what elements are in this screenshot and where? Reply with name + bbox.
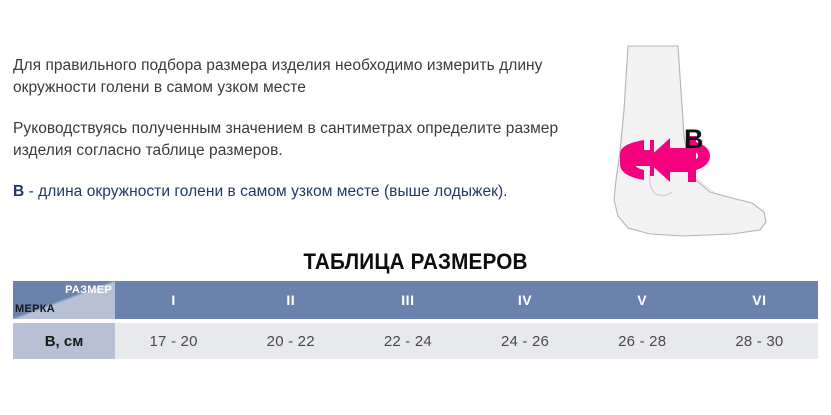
column-header-5: V — [584, 281, 701, 319]
instruction-paragraph-3: B - длина окружности голени в самом узко… — [13, 181, 573, 203]
cell-size-5: 26 - 28 — [584, 323, 701, 359]
column-header-6: VI — [701, 281, 818, 319]
measurement-marker-description: - длина окружности голени в самом узком … — [24, 183, 507, 200]
cell-size-2: 20 - 22 — [232, 323, 349, 359]
cell-size-6: 28 - 30 — [701, 323, 818, 359]
table-header-row: РАЗМЕР МЕРКА I II III IV V VI — [13, 281, 818, 319]
size-table: РАЗМЕР МЕРКА I II III IV V VI B, см 17 -… — [13, 281, 818, 359]
measurement-marker-b: B — [13, 183, 24, 200]
column-header-3: III — [349, 281, 466, 319]
figure-measurement-label: B — [684, 126, 704, 153]
column-header-1: I — [115, 281, 232, 319]
column-header-4: IV — [466, 281, 583, 319]
cell-size-1: 17 - 20 — [115, 323, 232, 359]
instruction-paragraph-2: Руководствуясь полученным значением в са… — [13, 118, 573, 162]
column-header-2: II — [232, 281, 349, 319]
table-corner-cell: РАЗМЕР МЕРКА — [13, 281, 115, 319]
table-title: ТАБЛИЦА РАЗМЕРОВ — [25, 249, 806, 275]
table-row: B, см 17 - 20 20 - 22 22 - 24 24 - 26 26… — [13, 323, 818, 359]
cell-size-3: 22 - 24 — [349, 323, 466, 359]
row-label-measure: B, см — [13, 323, 115, 359]
corner-measure-label: МЕРКА — [15, 303, 55, 315]
instructions-block: Для правильного подбора размера изделия … — [13, 55, 573, 203]
instruction-paragraph-1: Для правильного подбора размера изделия … — [13, 55, 573, 99]
corner-size-label: РАЗМЕР — [65, 284, 112, 296]
leg-illustration — [592, 40, 822, 258]
cell-size-4: 24 - 26 — [466, 323, 583, 359]
